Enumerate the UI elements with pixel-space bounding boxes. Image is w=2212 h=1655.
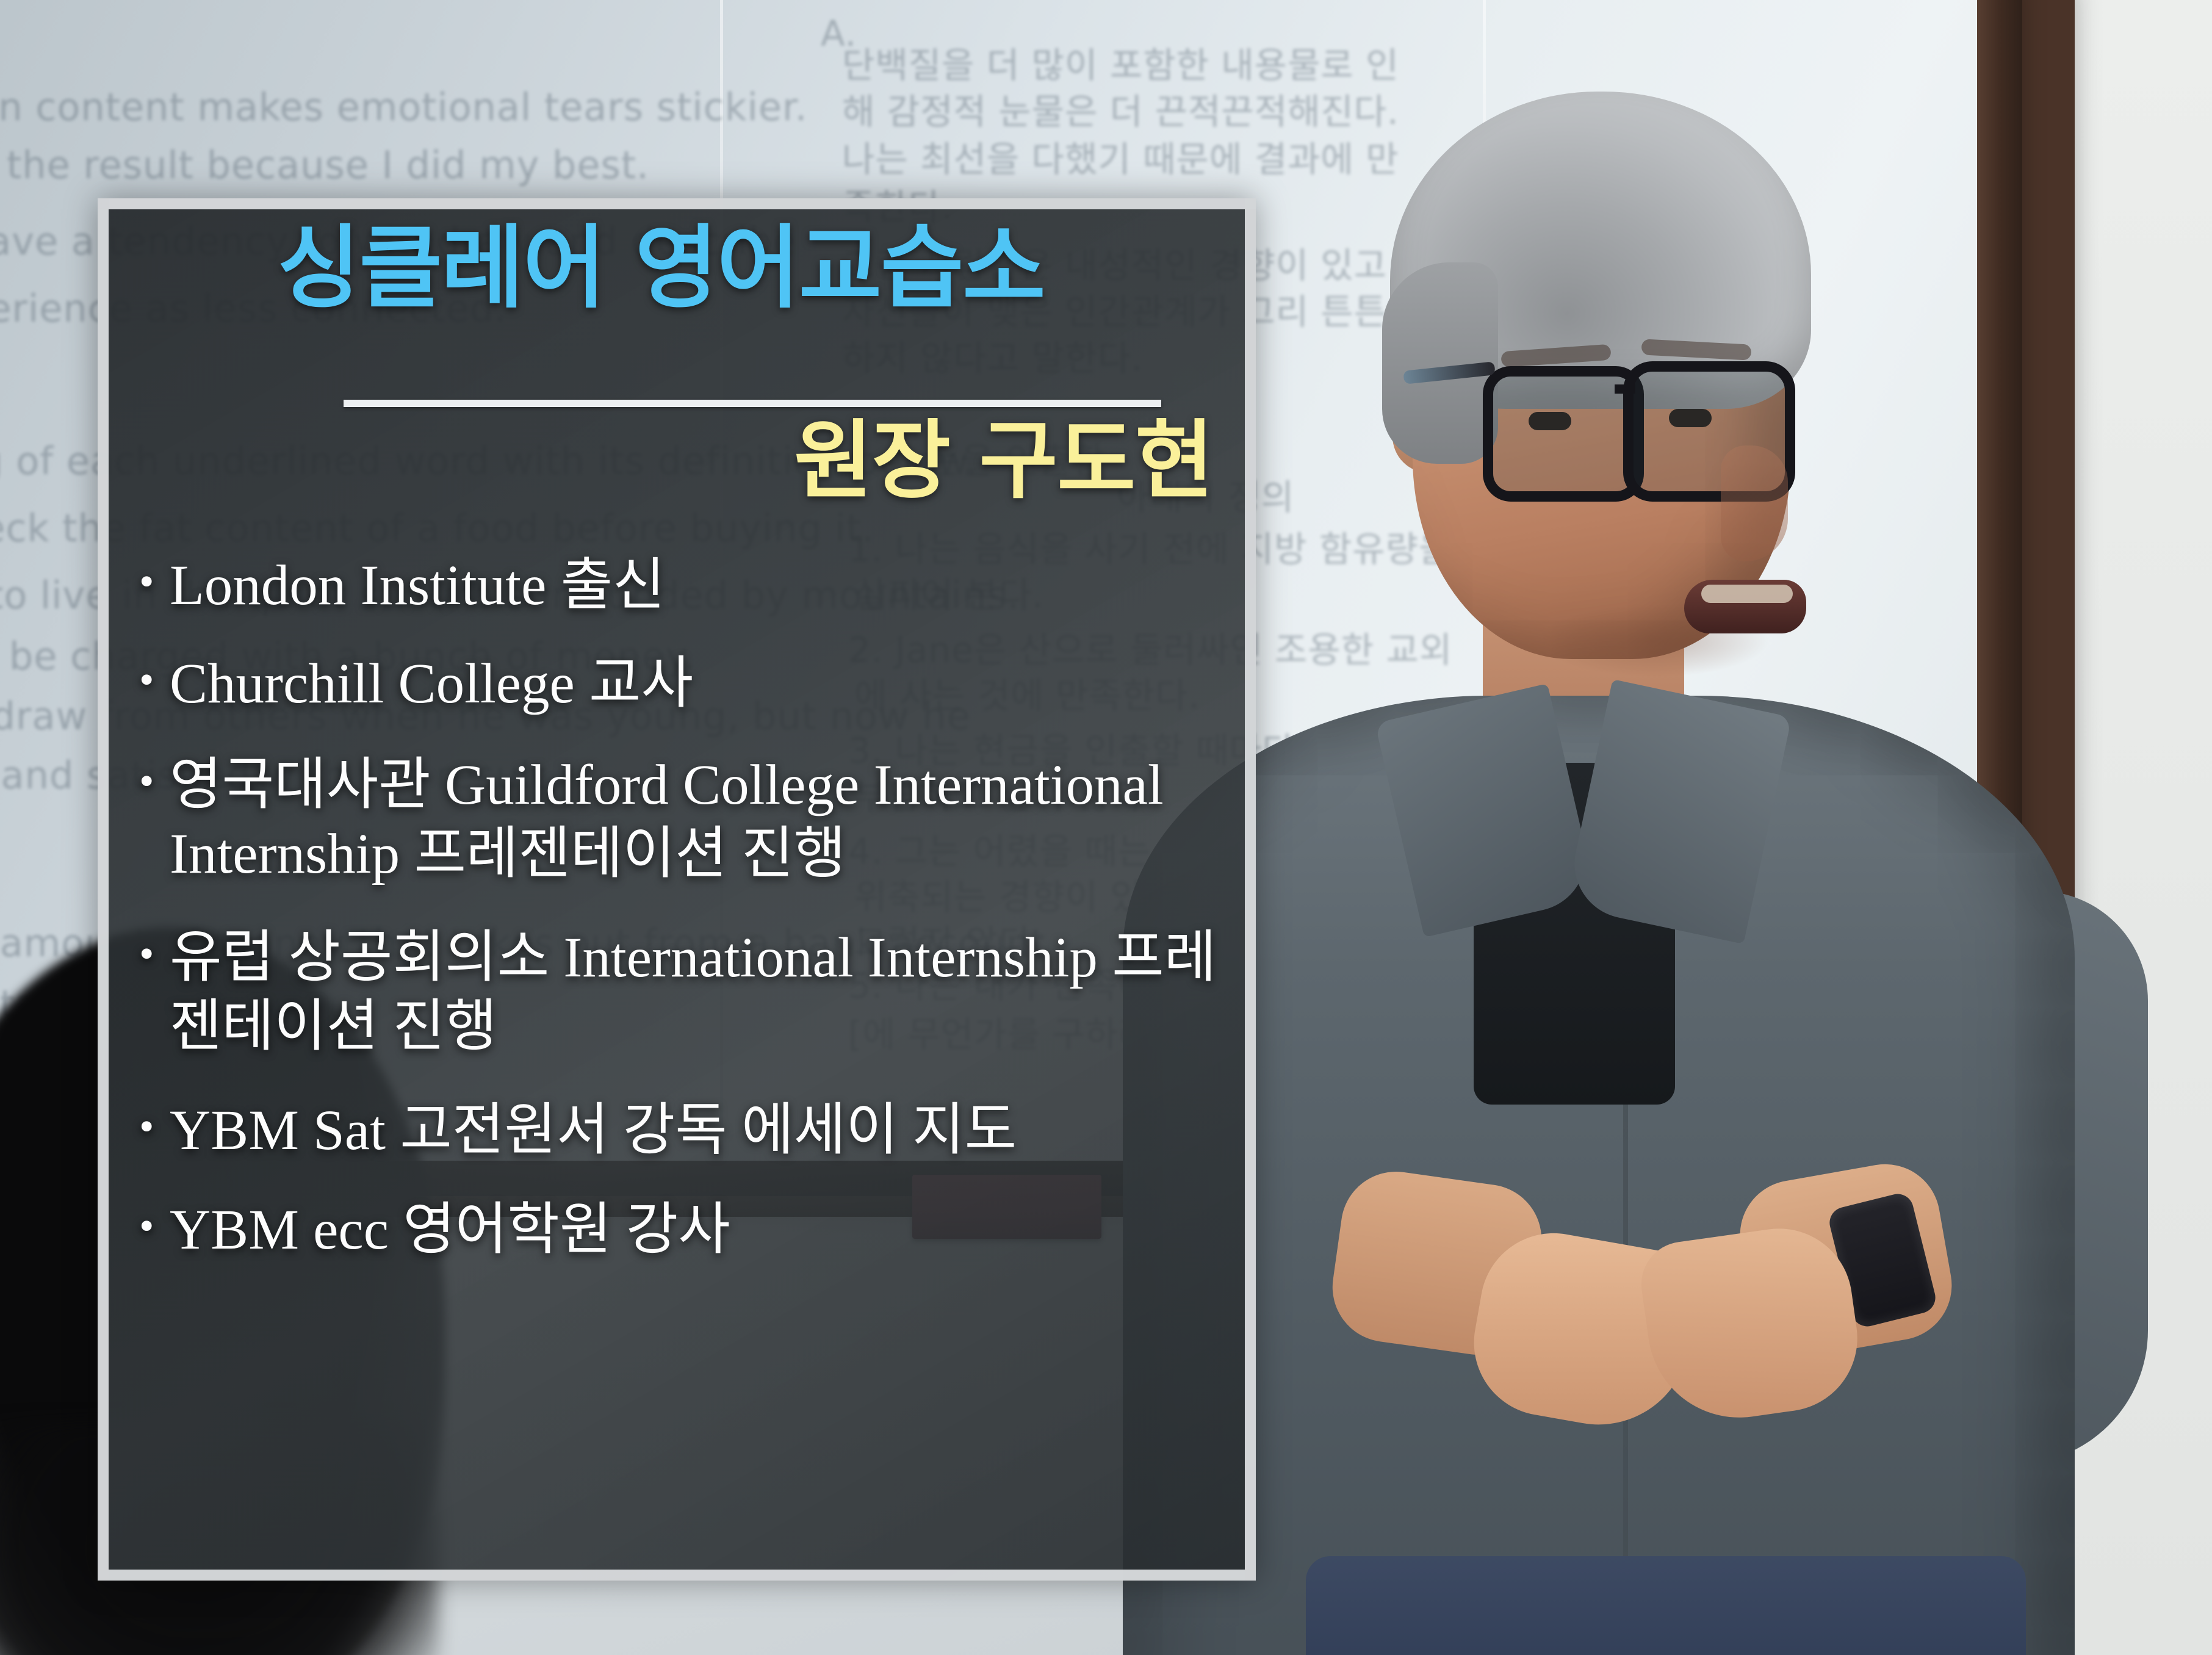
slide-bullet-list: • London Institute 출신 • Churchill Colleg… (139, 551, 1224, 1563)
list-item: • London Institute 출신 (139, 551, 1224, 620)
bullet-text: London Institute 출신 (170, 551, 1224, 620)
bullet-dot-icon: • (139, 923, 170, 986)
list-item: • Churchill College 교사 (139, 649, 1224, 718)
slide-title-divider (344, 400, 1161, 407)
screenshot-root: ein content makes emotional tears sticki… (0, 0, 2212, 1655)
bullet-dot-icon: • (139, 649, 170, 712)
bullet-dot-icon: • (139, 1195, 170, 1258)
bullet-dot-icon: • (139, 551, 170, 613)
slide-title-main: 싱클레어 영어교습소 (109, 218, 1213, 319)
presenter-nose (1721, 445, 1788, 561)
bullet-text: YBM Sat 고전원서 강독 에세이 지도 (170, 1096, 1224, 1165)
list-item: • YBM Sat 고전원서 강독 에세이 지도 (139, 1096, 1224, 1165)
list-item: • 영국대사관 Guildford College International … (139, 751, 1224, 889)
presenter-jeans (1306, 1556, 2026, 1655)
slide-overlay-panel: 싱클레어 영어교습소 원장 구도현 • London Institute 출신 … (98, 198, 1256, 1581)
presenter-teeth (1701, 585, 1793, 603)
bullet-dot-icon: • (139, 751, 170, 813)
bullet-text: YBM ecc 영어학원 강사 (170, 1195, 1224, 1264)
bullet-text: 유럽 상공회의소 International Internship 프레젠테이션… (170, 923, 1224, 1062)
list-item: • YBM ecc 영어학원 강사 (139, 1195, 1224, 1264)
presenter-figure (1196, 79, 2111, 1655)
slide-title-sub: 원장 구도현 (794, 414, 1213, 508)
glasses-bridge (1615, 384, 1635, 394)
bullet-text: Churchill College 교사 (170, 649, 1224, 718)
bullet-dot-icon: • (139, 1096, 170, 1158)
bullet-text: 영국대사관 Guildford College International In… (170, 751, 1224, 889)
list-item: • 유럽 상공회의소 International Internship 프레젠테… (139, 923, 1224, 1062)
